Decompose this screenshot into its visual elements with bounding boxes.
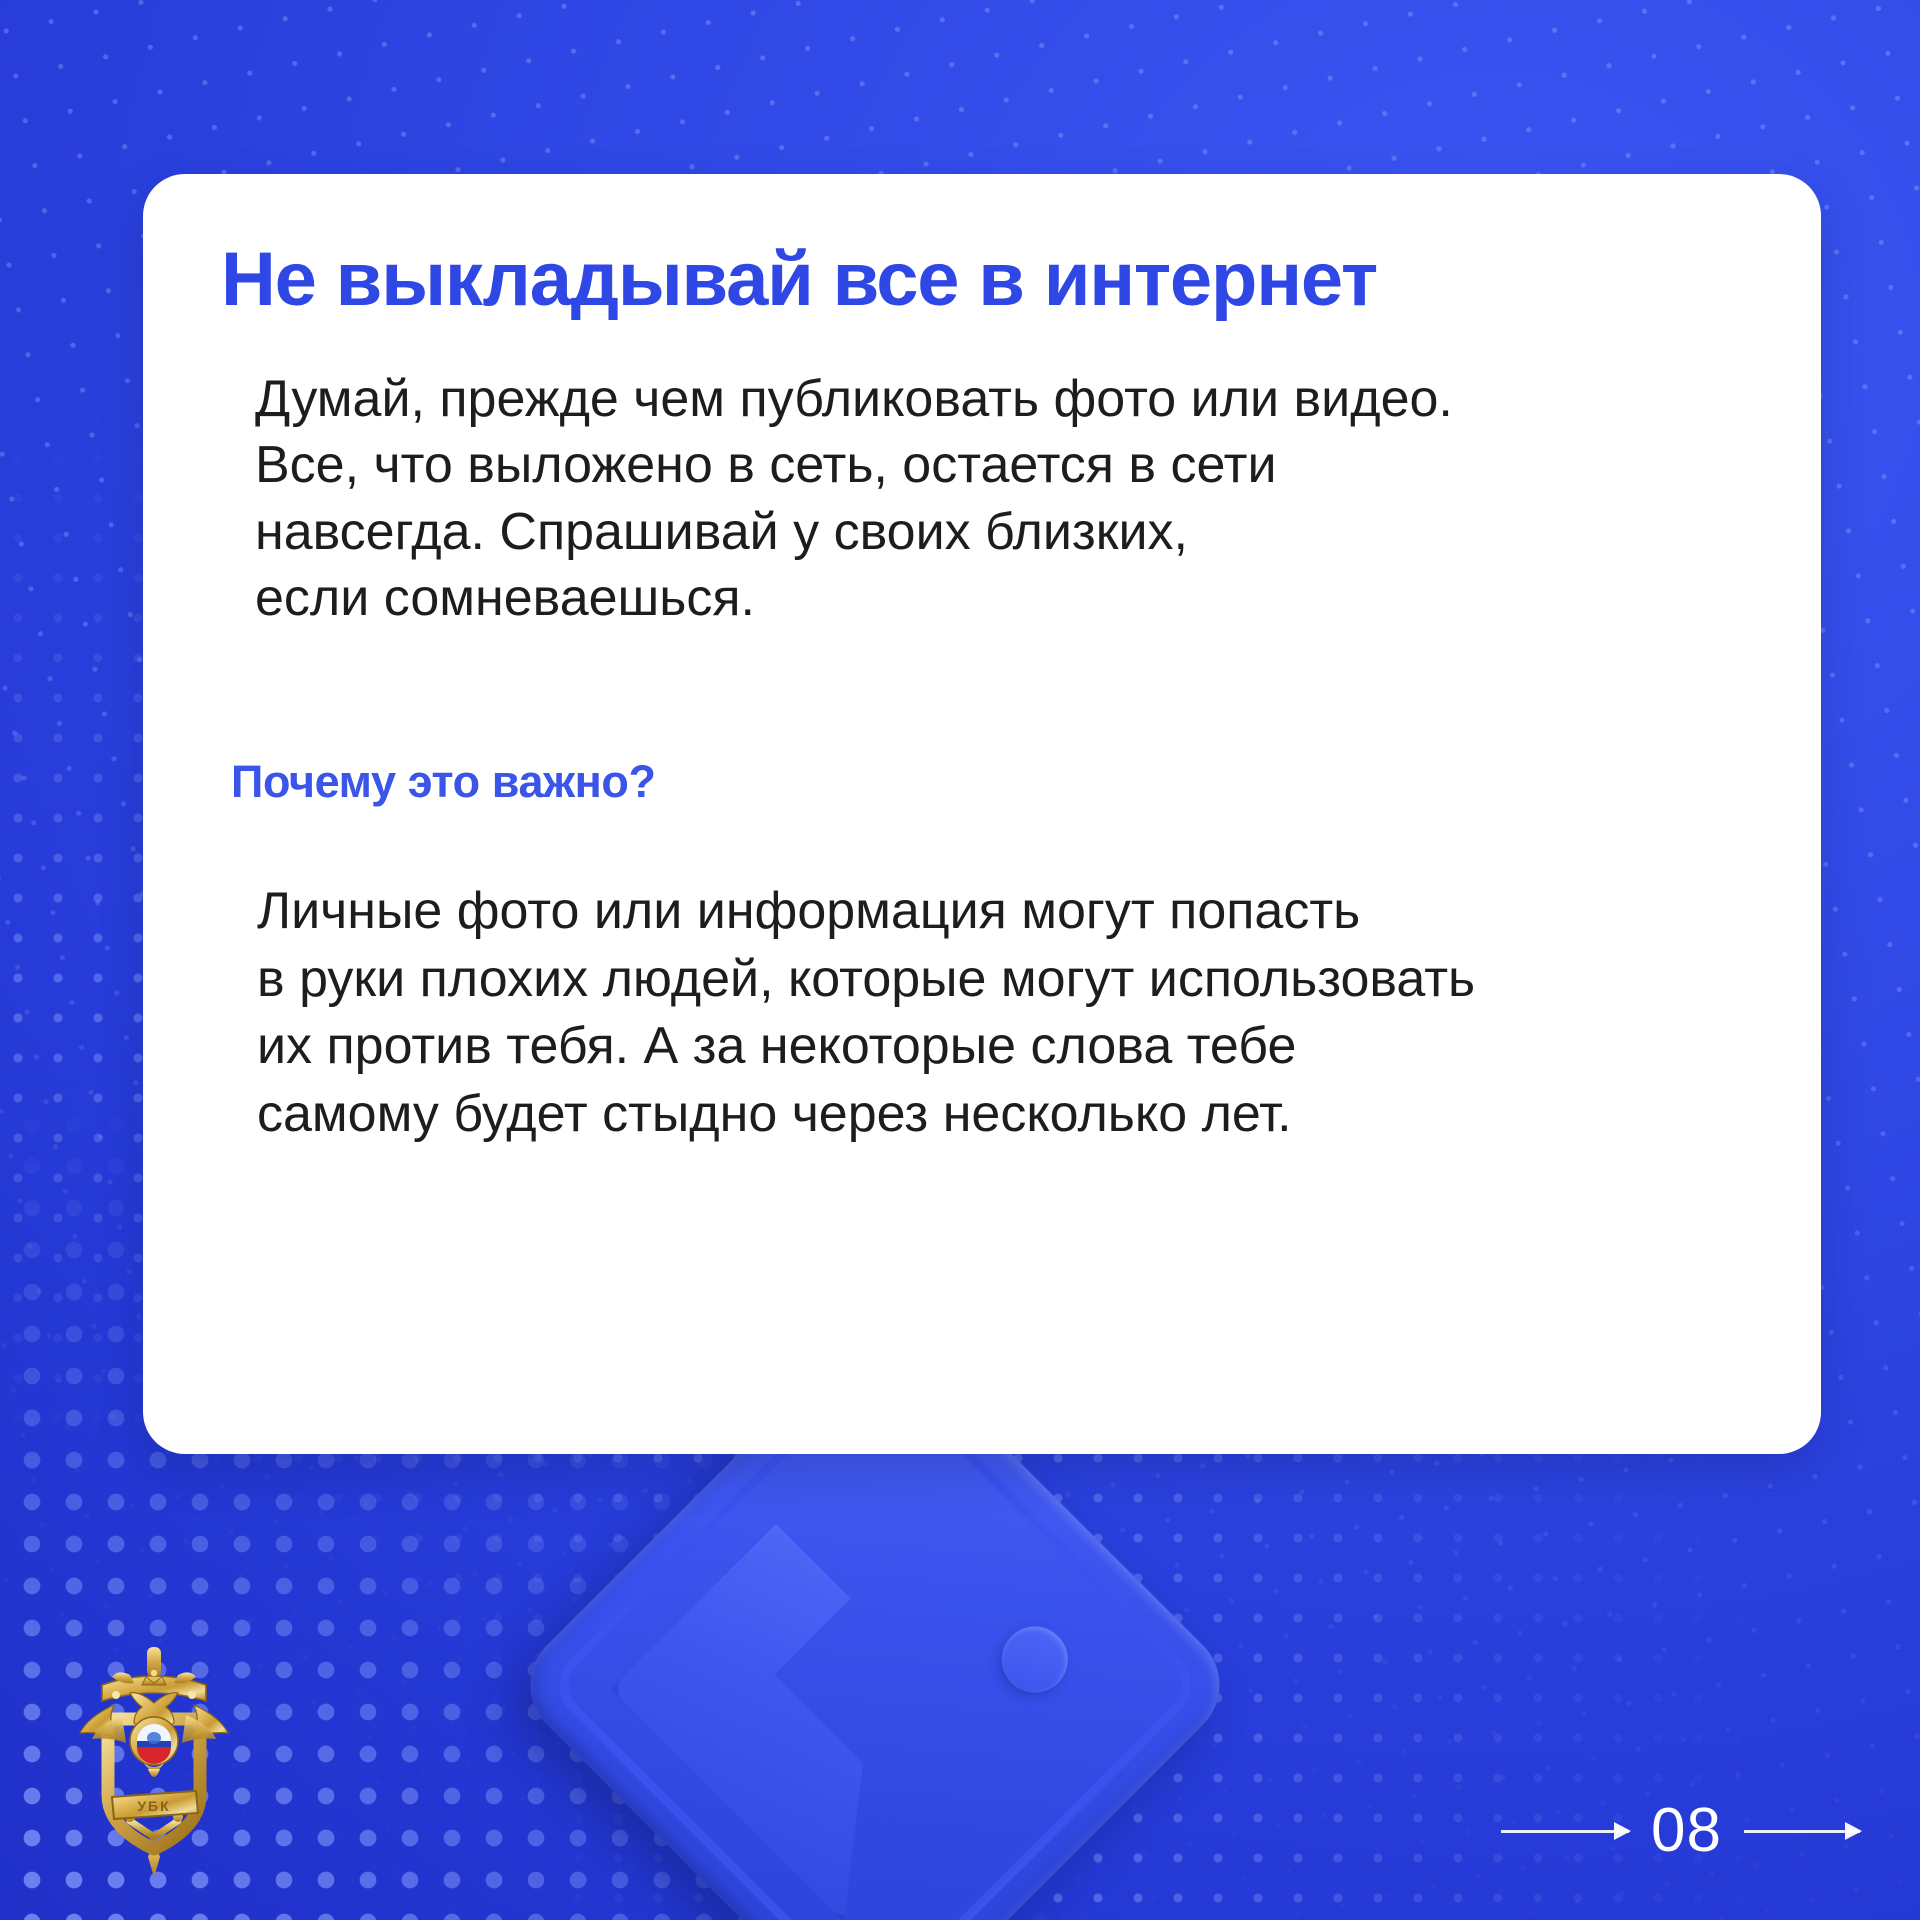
page-title: Не выкладывай все в интернет bbox=[221, 240, 1743, 320]
page-number: 08 bbox=[1647, 1800, 1726, 1862]
section-subtitle: Почему это важно? bbox=[231, 756, 1743, 808]
slide-root: Не выкладывай все в интернет Думай, преж… bbox=[0, 0, 1920, 1920]
content-card: Не выкладывай все в интернет Думай, преж… bbox=[143, 174, 1821, 1454]
pager-arrow-right-icon[interactable] bbox=[1744, 1830, 1860, 1833]
svg-text:УБК: УБК bbox=[137, 1798, 170, 1814]
explanation-paragraph: Личные фото или информация могут попасть… bbox=[257, 878, 1743, 1148]
intro-paragraph: Думай, прежде чем публиковать фото или в… bbox=[255, 366, 1743, 632]
pager: 08 bbox=[1501, 1800, 1860, 1862]
pager-arrow-left-icon bbox=[1501, 1830, 1629, 1833]
emblem: УБК bbox=[78, 1645, 230, 1877]
emblem-banner: УБК bbox=[112, 1791, 198, 1819]
